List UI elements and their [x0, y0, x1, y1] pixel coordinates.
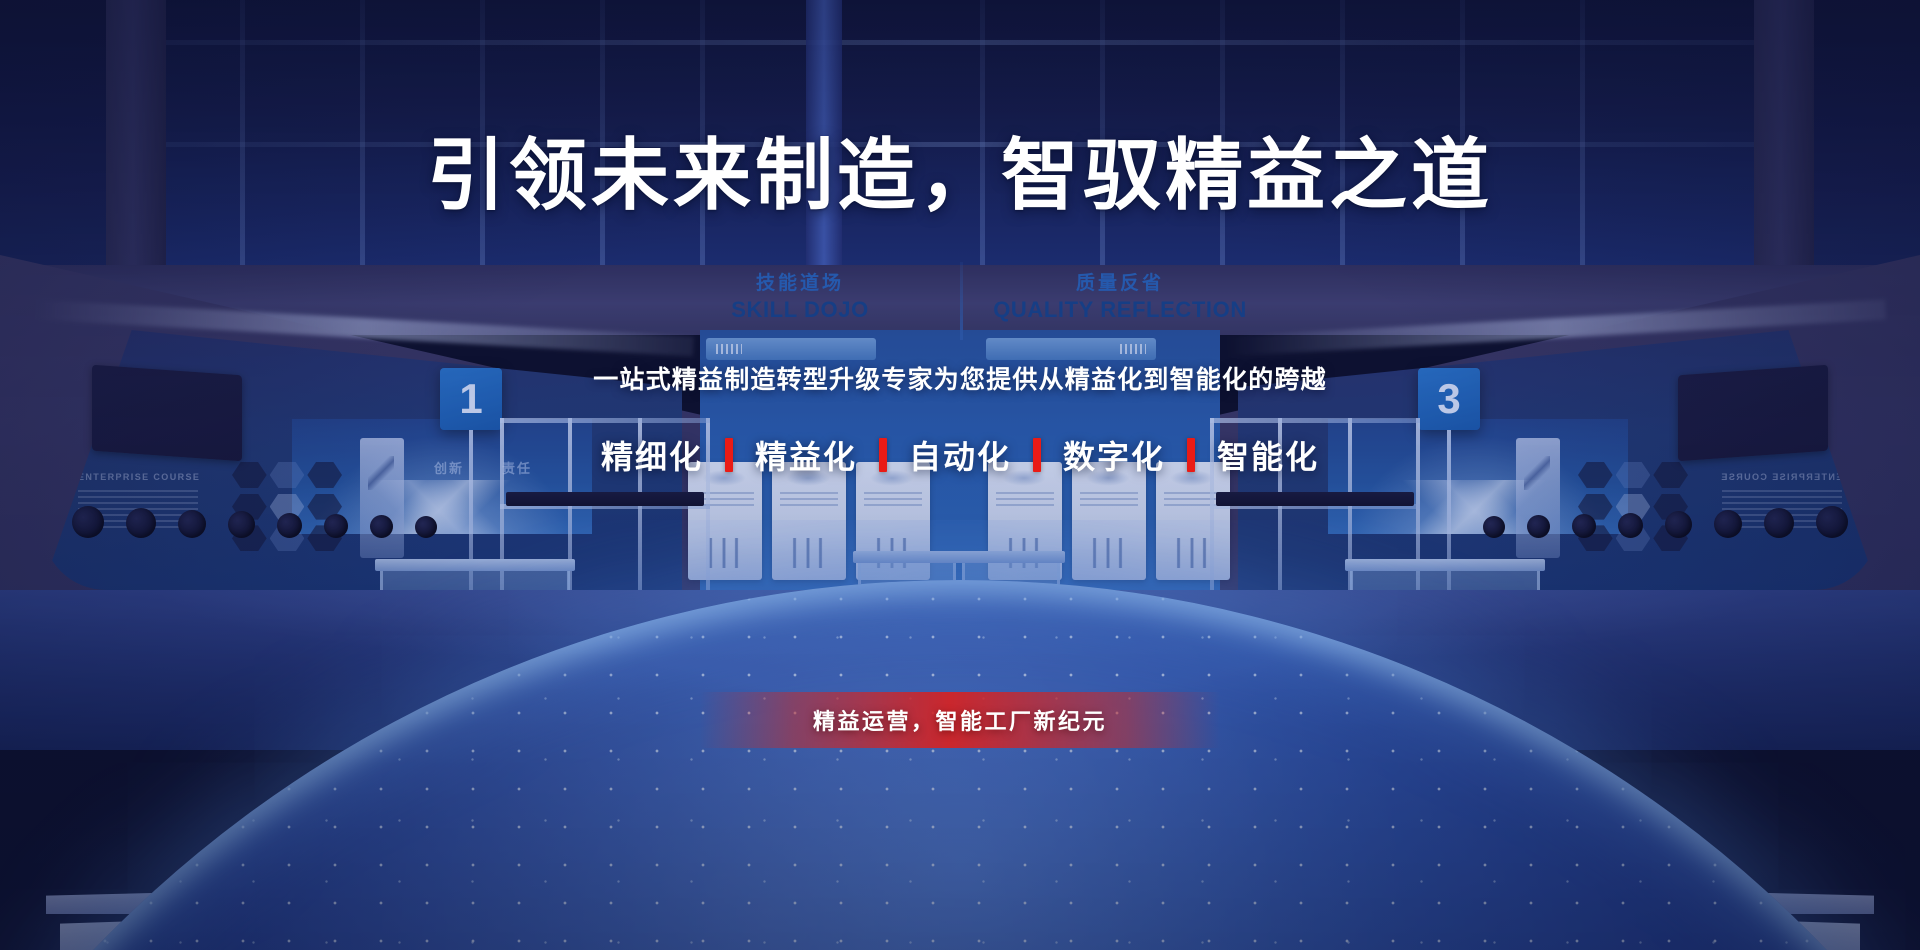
keyword-separator-bar [1033, 438, 1041, 472]
tagline-badge: 精益运营，智能工厂新纪元 [700, 692, 1220, 748]
tagline-badge-text: 精益运营，智能工厂新纪元 [813, 704, 1107, 736]
keyword-separator-bar [1187, 438, 1195, 472]
keyword-list: 精细化 精益化 自动化 数字化 智能化 [0, 432, 1920, 478]
keyword-item: 自动化 [909, 432, 1011, 478]
page-title: 引领未来制造，智驭精益之道 [0, 136, 1920, 214]
hero-subtitle: 一站式精益制造转型升级专家为您提供从精益化到智能化的跨越 [0, 360, 1920, 396]
keyword-item: 精益化 [755, 432, 857, 478]
keyword-separator-bar [725, 438, 733, 472]
keyword-item: 智能化 [1217, 432, 1319, 478]
keyword-item: 数字化 [1063, 432, 1165, 478]
hero-content: 引领未来制造，智驭精益之道 一站式精益制造转型升级专家为您提供从精益化到智能化的… [0, 0, 1920, 950]
keyword-item: 精细化 [601, 432, 703, 478]
keyword-separator-bar [879, 438, 887, 472]
hero-banner: ENTERPRISE COURSE 创新 责任 [0, 0, 1920, 950]
